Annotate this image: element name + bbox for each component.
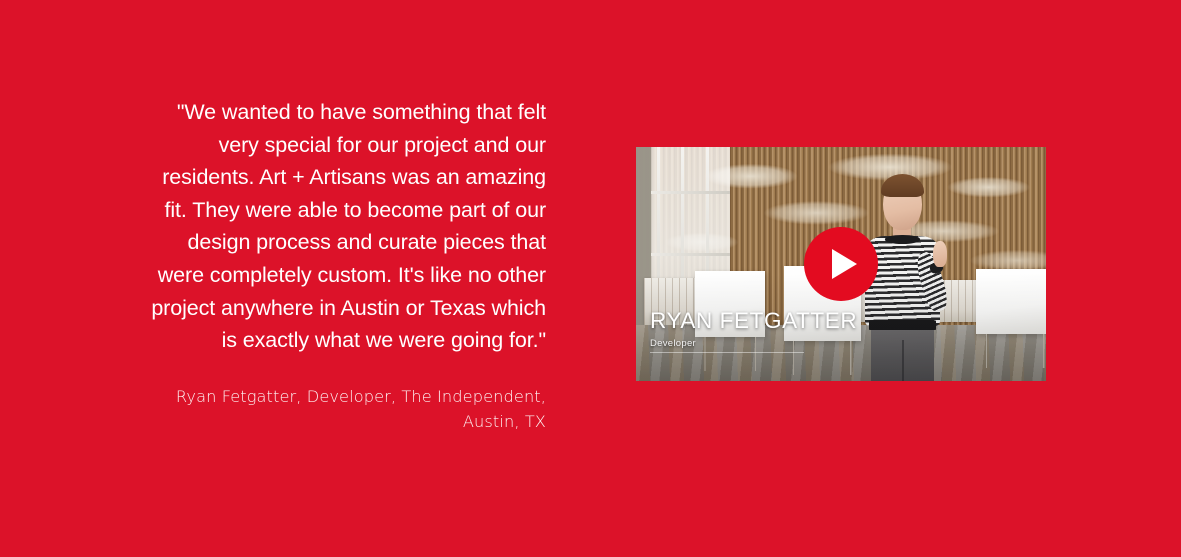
- white-display-panel: [695, 271, 765, 337]
- testimonial-section: "We wanted to have something that felt v…: [0, 0, 1181, 557]
- hair: [881, 174, 924, 196]
- quote-block: "We wanted to have something that felt v…: [146, 96, 546, 434]
- panel-legs: [700, 337, 761, 371]
- panel-legs: [981, 334, 1046, 368]
- testimonial-attribution: Ryan Fetgatter, Developer, The Independe…: [146, 384, 546, 434]
- shirt-collar: [885, 235, 919, 243]
- white-display-panel: [976, 269, 1046, 335]
- shirt-hem: [869, 320, 936, 330]
- gesturing-hand: [933, 241, 947, 267]
- play-button[interactable]: [804, 227, 878, 301]
- video-player-card[interactable]: RYAN FETGATTER Developer: [636, 147, 1046, 381]
- leg-separation: [902, 340, 904, 381]
- testimonial-quote: "We wanted to have something that felt v…: [146, 96, 546, 357]
- window-transom: [651, 191, 730, 194]
- play-triangle-icon: [832, 249, 857, 279]
- window-transom: [651, 253, 730, 256]
- panel-legs: [788, 341, 857, 375]
